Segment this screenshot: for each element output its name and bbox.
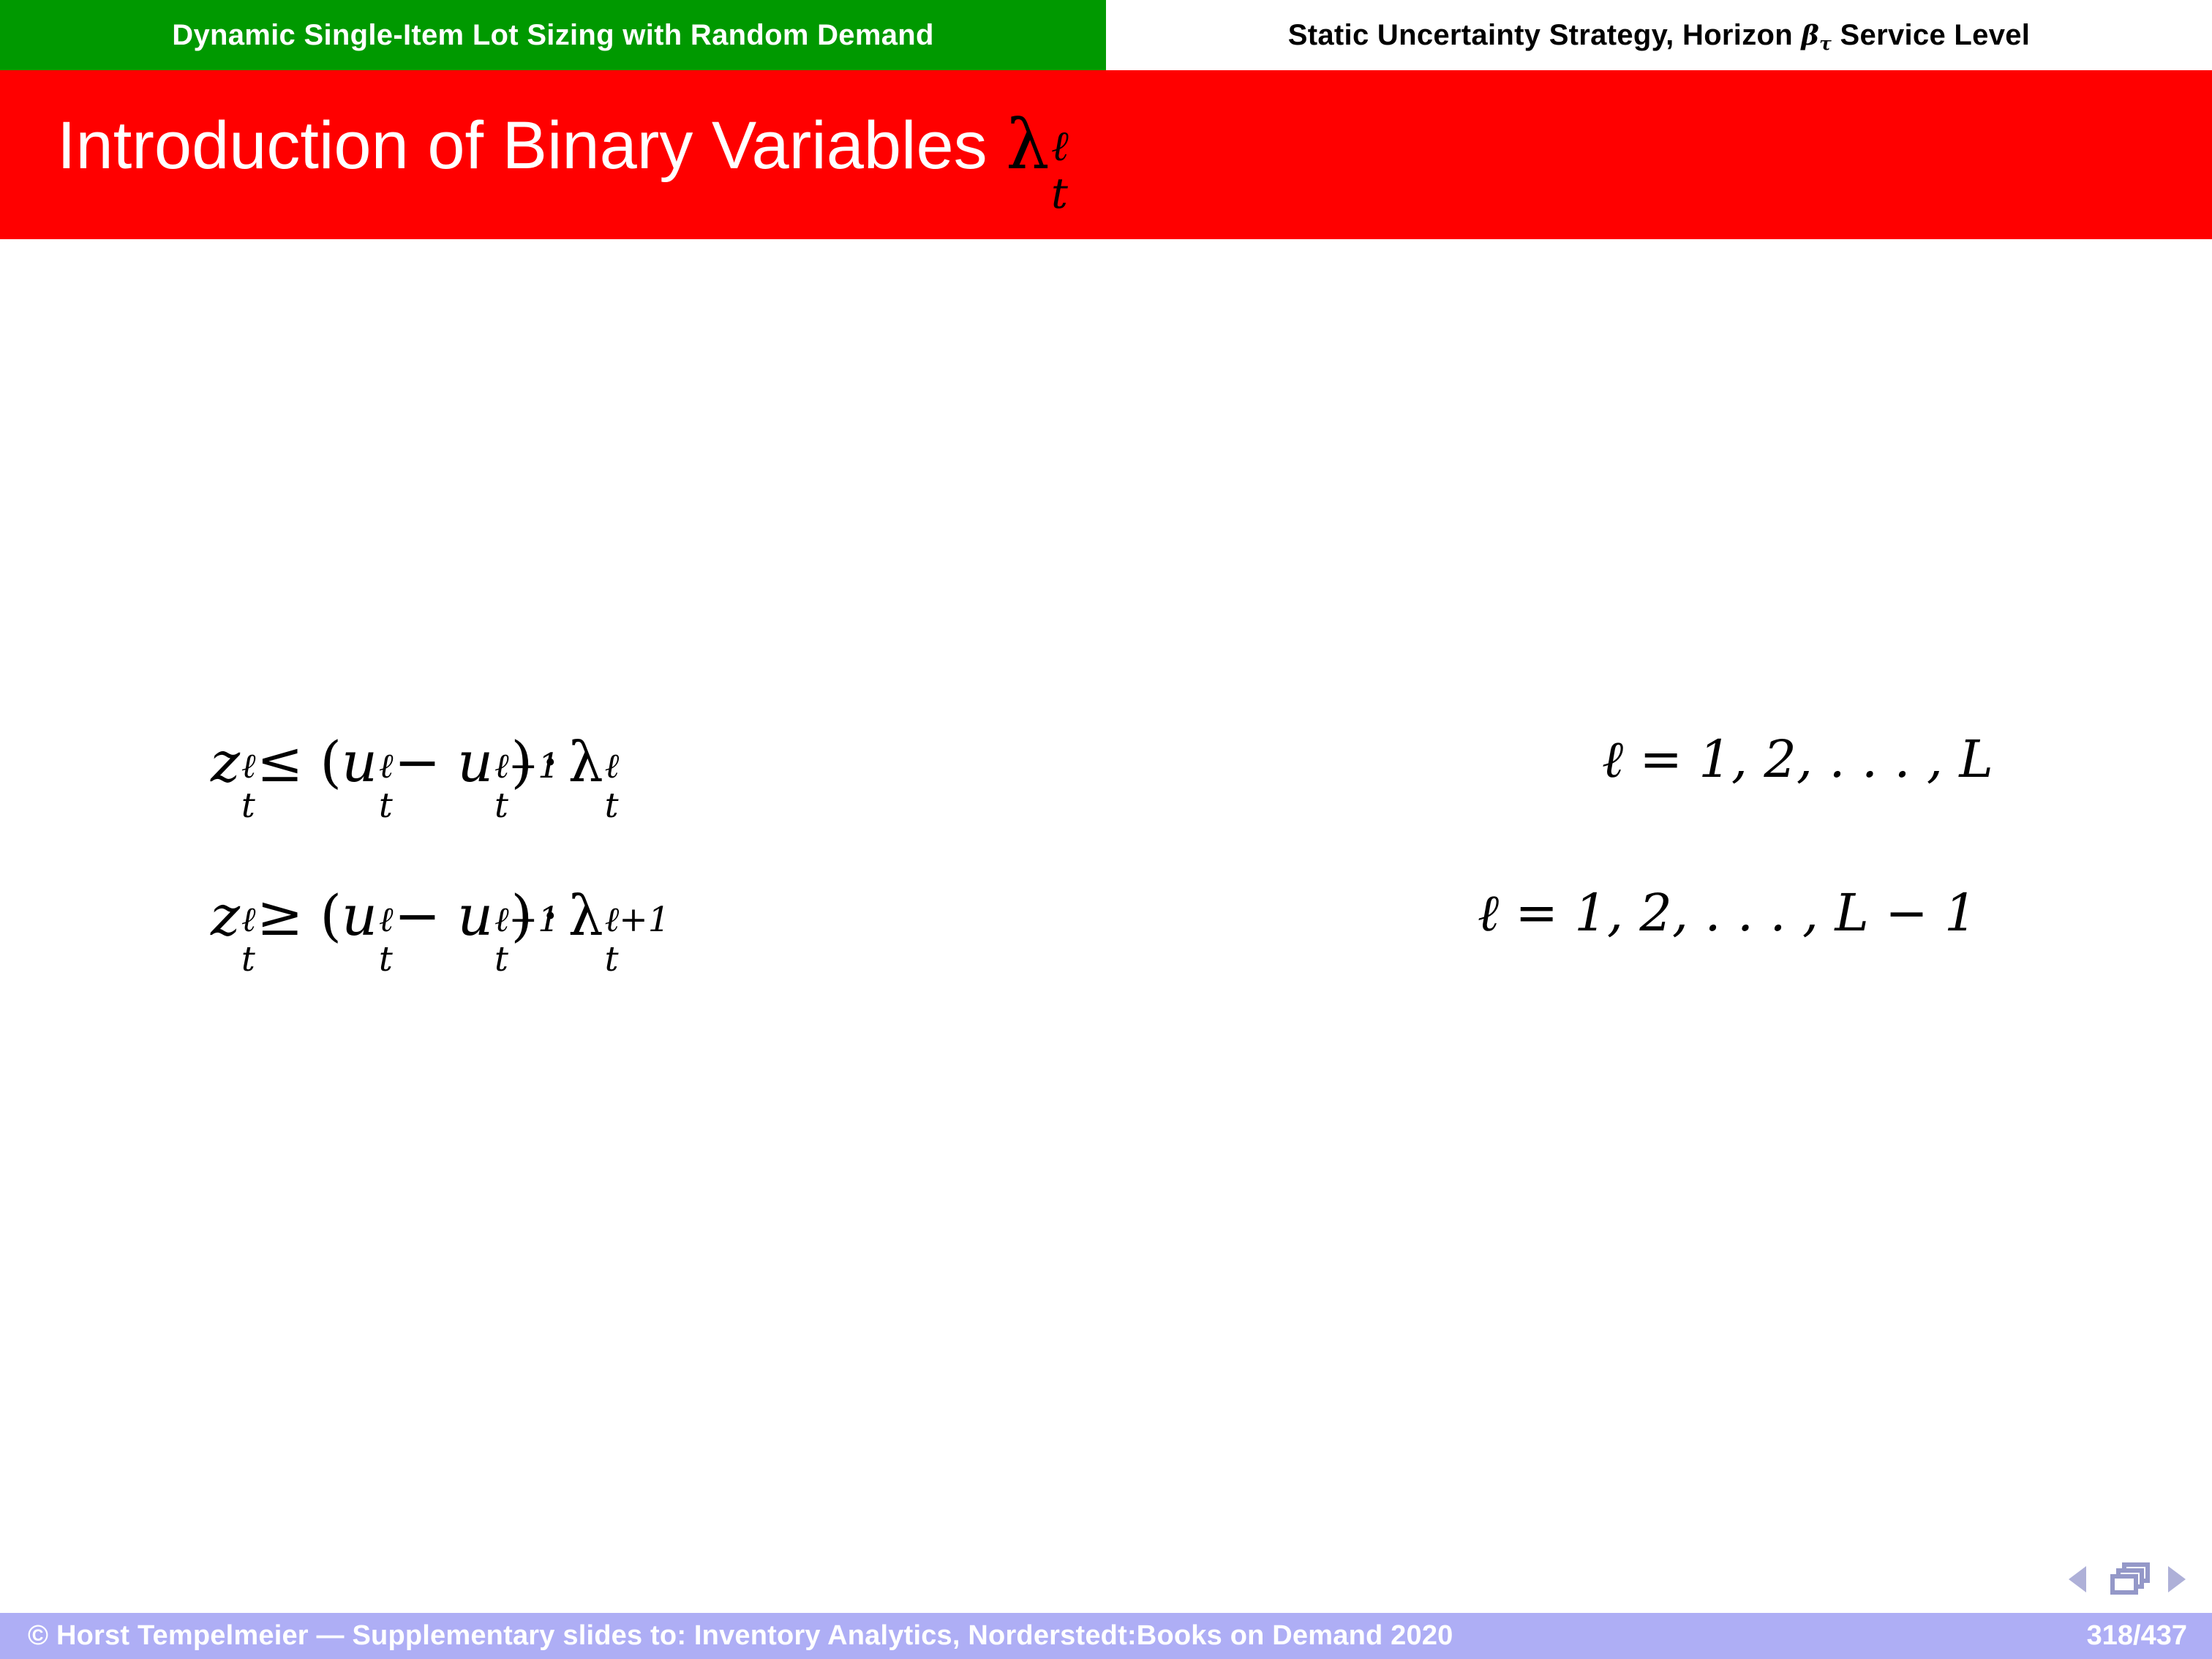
eq1-cond-suffix: L <box>1959 729 1993 789</box>
equation-row: zℓt≤(uℓt−uℓ−1t)·λℓt ℓ = 1, 2, . . . , L <box>0 729 2212 817</box>
eq1-relation: ≤ <box>257 729 304 794</box>
eq2-rhs-subscript: t <box>605 939 619 979</box>
slide-overview-icon[interactable] <box>2104 1562 2150 1596</box>
eq2-lhs-superscript: ℓ <box>241 900 256 940</box>
previous-slide-icon[interactable] <box>2069 1566 2086 1592</box>
eq1-lhs-var: z <box>211 729 240 794</box>
eq2-term2-superscript: ℓ−1 <box>494 900 560 940</box>
equation-row: zℓt≥(uℓt−uℓ−1t)·λℓ+1t ℓ = 1, 2, . . . , … <box>0 883 2212 971</box>
next-slide-icon[interactable] <box>2168 1566 2186 1592</box>
equation-1-expression: zℓt≤(uℓt−uℓ−1t)·λℓt <box>211 729 603 794</box>
eq2-term1-subscript: t <box>379 939 393 979</box>
equation-1-condition: ℓ = 1, 2, . . . , L <box>1602 729 1993 790</box>
header-right-title-post: Service Level <box>1832 19 2030 51</box>
header-left-title: Dynamic Single-Item Lot Sizing with Rand… <box>172 19 933 52</box>
eq2-cond-suffix: L − 1 <box>1835 883 1976 943</box>
slide-navigation-controls[interactable] <box>2069 1558 2186 1600</box>
lambda-subscript: t <box>1051 173 1068 215</box>
slide-stack-front <box>2110 1574 2138 1595</box>
eq1-term2-subscript: t <box>494 786 508 826</box>
eq1-term2-superscript: ℓ−1 <box>494 746 560 786</box>
eq1-open-paren: ( <box>320 729 342 794</box>
eq2-relation: ≥ <box>257 883 304 948</box>
eq1-term2-var: u <box>457 729 493 794</box>
eq2-term2-var: u <box>457 883 493 948</box>
eq1-term1-var: u <box>342 729 377 794</box>
eq1-rhs-lambda: λ <box>568 729 603 794</box>
page-title-text: Introduction of Binary Variables <box>57 108 1006 183</box>
equation-2-condition: ℓ = 1, 2, . . . , L − 1 <box>1478 883 1977 944</box>
copyright-icon: © <box>28 1620 48 1651</box>
header-right-title: Static Uncertainty Strategy, Horizon βτ … <box>1288 19 2030 52</box>
eq1-cond-prefix: ℓ = 1, 2, . . . , <box>1602 729 1959 789</box>
eq1-operator: − <box>394 729 441 794</box>
eq2-cond-prefix: ℓ = 1, 2, . . . , <box>1478 883 1835 943</box>
eq2-term1-var: u <box>342 883 377 948</box>
equation-2-expression: zℓt≥(uℓt−uℓ−1t)·λℓ+1t <box>211 883 603 948</box>
eq1-lhs-superscript: ℓ <box>241 746 256 786</box>
eq1-rhs-superscript: ℓ <box>605 746 620 786</box>
eq2-lhs-subscript: t <box>241 939 255 979</box>
eq1-rhs-subscript: t <box>605 786 619 826</box>
eq2-term1-superscript: ℓ <box>379 900 394 940</box>
page-title: Introduction of Binary Variables λℓt <box>57 111 1050 180</box>
eq1-term1-subscript: t <box>379 786 393 826</box>
slide-content: zℓt≤(uℓt−uℓ−1t)·λℓt ℓ = 1, 2, . . . , L … <box>0 239 2212 1613</box>
beta-subscript: τ <box>1819 33 1832 54</box>
eq1-lhs-subscript: t <box>241 786 255 826</box>
header-left-section: Dynamic Single-Item Lot Sizing with Rand… <box>0 0 1106 70</box>
lambda-symbol: λ <box>1006 105 1049 185</box>
lambda-superscript: ℓ <box>1051 126 1069 168</box>
header-right-title-pre: Static Uncertainty Strategy, Horizon <box>1288 19 1802 51</box>
slide-footer-bar: © Horst Tempelmeier — Supplementary slid… <box>0 1613 2212 1659</box>
eq2-lhs-var: z <box>211 883 240 948</box>
slide-header-bar: Dynamic Single-Item Lot Sizing with Rand… <box>0 0 2212 70</box>
footer-attribution: © Horst Tempelmeier — Supplementary slid… <box>28 1620 1453 1652</box>
slide-title-band: Introduction of Binary Variables λℓt <box>0 70 2212 239</box>
beta-symbol: β <box>1801 19 1819 51</box>
eq2-operator: − <box>394 883 441 948</box>
eq2-rhs-lambda: λ <box>568 883 603 948</box>
footer-text-label: Horst Tempelmeier — Supplementary slides… <box>56 1620 1453 1651</box>
eq2-open-paren: ( <box>320 883 342 948</box>
header-right-section: Static Uncertainty Strategy, Horizon βτ … <box>1106 0 2212 70</box>
eq2-term2-subscript: t <box>494 939 508 979</box>
eq1-term1-superscript: ℓ <box>379 746 394 786</box>
page-number: 318/437 <box>2087 1620 2187 1652</box>
eq2-rhs-superscript: ℓ+1 <box>605 900 670 940</box>
